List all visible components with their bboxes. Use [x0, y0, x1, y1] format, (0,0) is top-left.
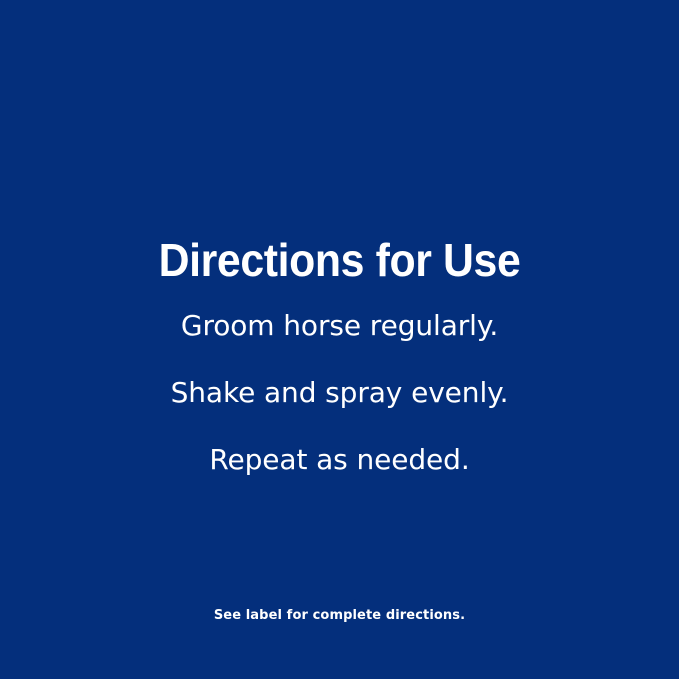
instruction-line: Shake and spray evenly. — [0, 359, 679, 426]
instructions-list: Groom horse regularly. Shake and spray e… — [0, 292, 679, 493]
instruction-line: Repeat as needed. — [0, 426, 679, 493]
page-title: Directions for Use — [24, 237, 655, 283]
footer-disclaimer: See label for complete directions. — [0, 609, 679, 622]
instruction-line: Groom horse regularly. — [0, 292, 679, 359]
directions-panel: Directions for Use Groom horse regularly… — [0, 0, 679, 679]
